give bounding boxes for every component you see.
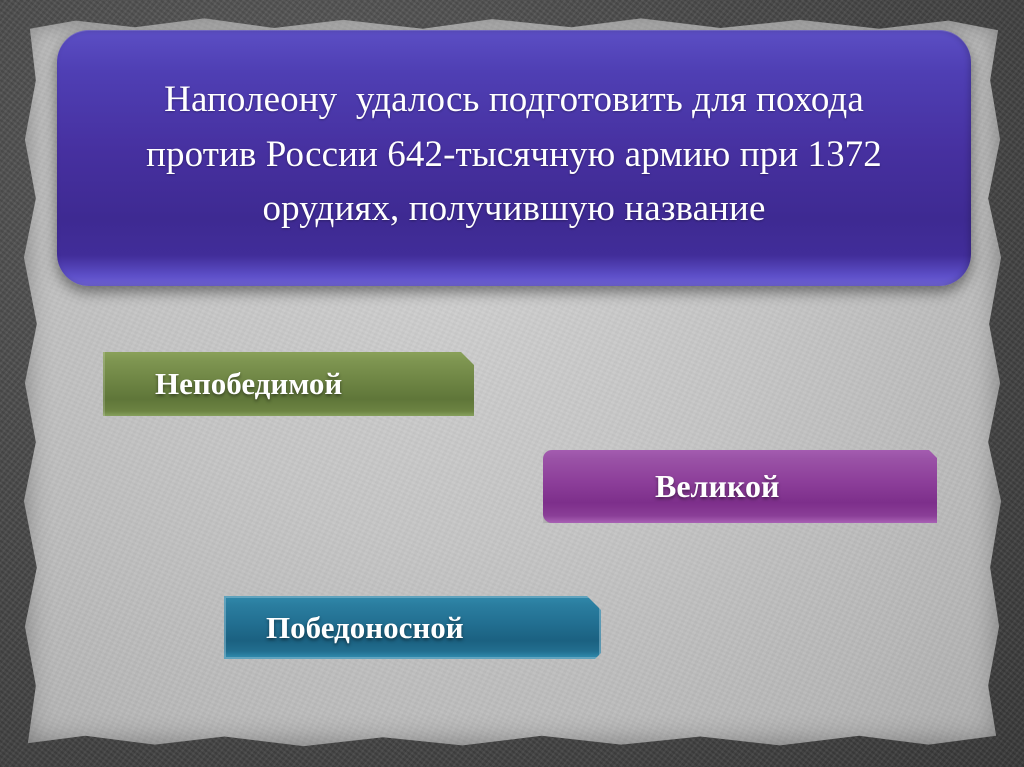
answer-option-purple[interactable]: Великой <box>543 450 937 523</box>
answer-option-teal-label: Победоносной <box>266 610 599 646</box>
question-panel: Наполеону удалось подготовить для похода… <box>57 30 971 286</box>
question-text: Наполеону удалось подготовить для похода… <box>115 73 913 236</box>
answer-option-purple-label: Великой <box>655 468 937 505</box>
answer-option-green-label: Непобедимой <box>155 366 474 402</box>
slide-canvas: Наполеону удалось подготовить для похода… <box>0 0 1024 767</box>
answer-option-green[interactable]: Непобедимой <box>103 352 474 416</box>
answer-option-teal[interactable]: Победоносной <box>224 596 601 659</box>
